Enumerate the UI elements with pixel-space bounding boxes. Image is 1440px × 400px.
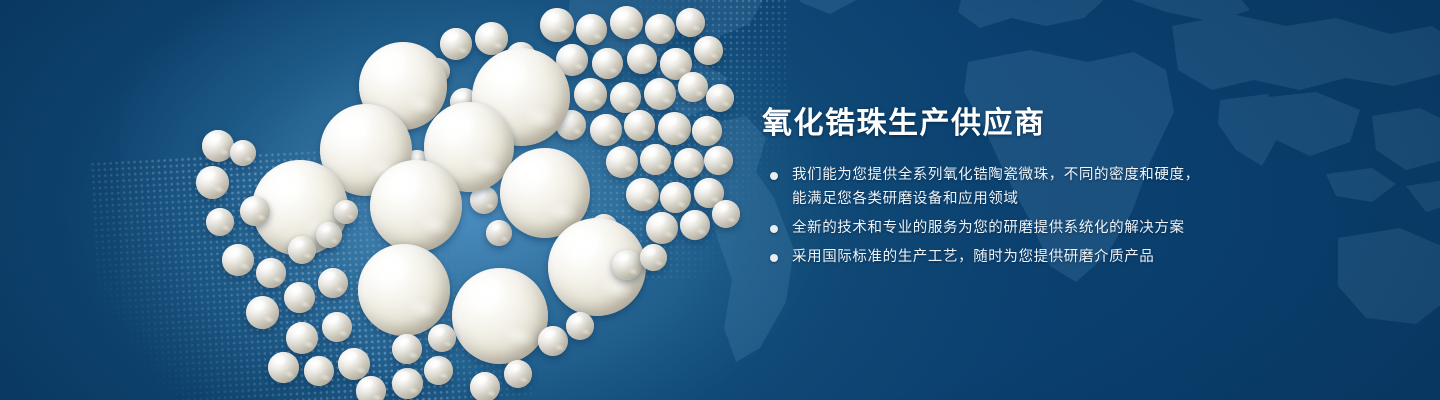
bead: [640, 144, 671, 175]
page-title: 氧化锆珠生产供应商: [762, 104, 1322, 144]
bead: [576, 14, 607, 45]
bead: [678, 72, 708, 102]
list-item-line: 全新的技术和专业的服务为您的研磨提供系统化的解决方案: [792, 216, 1322, 240]
bullet-dot-icon: [770, 172, 778, 180]
bullet-dot-icon: [770, 254, 778, 262]
bead-large: [358, 244, 450, 336]
list-item: 我们能为您提供全系列氧化锆陶瓷微珠，不同的密度和硬度， 能满足您各类研磨设备和应…: [762, 163, 1322, 211]
bead: [626, 178, 659, 211]
bead: [592, 48, 623, 79]
bead: [644, 78, 676, 110]
feature-list: 我们能为您提供全系列氧化锆陶瓷微珠，不同的密度和硬度， 能满足您各类研磨设备和应…: [762, 163, 1322, 269]
promo-banner: 氧化锆珠生产供应商 我们能为您提供全系列氧化锆陶瓷微珠，不同的密度和硬度， 能满…: [0, 0, 1440, 400]
bead: [240, 196, 270, 226]
bullet-dot-icon: [770, 225, 778, 233]
bead-large: [452, 268, 548, 364]
bead: [196, 166, 229, 199]
bead: [566, 312, 594, 340]
bead: [704, 146, 733, 175]
bead: [640, 244, 667, 271]
bead: [392, 334, 422, 364]
bead: [712, 200, 740, 228]
bead: [574, 78, 607, 111]
bead-large: [370, 160, 462, 252]
bead: [230, 140, 256, 166]
bead: [486, 220, 512, 246]
bead: [222, 244, 254, 276]
bead: [246, 296, 279, 329]
bead: [202, 130, 234, 162]
bead: [392, 368, 423, 399]
bead: [338, 348, 370, 380]
bead: [428, 324, 456, 352]
bead: [610, 82, 641, 113]
bead: [322, 312, 352, 342]
banner-copy: 氧化锆珠生产供应商 我们能为您提供全系列氧化锆陶瓷微珠，不同的密度和硬度， 能满…: [762, 104, 1322, 269]
bead: [288, 236, 316, 264]
bead: [440, 28, 472, 60]
bead: [538, 326, 568, 356]
bead: [692, 116, 722, 146]
bead: [316, 222, 342, 248]
bead: [356, 376, 386, 400]
bead: [304, 356, 334, 386]
list-item-line: 能满足您各类研磨设备和应用领域: [792, 187, 1322, 211]
list-item-line: 我们能为您提供全系列氧化锆陶瓷微珠，不同的密度和硬度，: [792, 163, 1322, 187]
bead: [206, 208, 234, 236]
zirconia-bead-cluster: [0, 0, 760, 400]
list-item-line: 采用国际标准的生产工艺，随时为您提供研磨介质产品: [792, 245, 1322, 269]
bead: [590, 114, 622, 146]
bead: [694, 36, 723, 65]
bead: [627, 44, 657, 74]
list-item: 采用国际标准的生产工艺，随时为您提供研磨介质产品: [762, 245, 1322, 269]
bead: [676, 8, 705, 37]
bead: [660, 182, 691, 213]
list-item: 全新的技术和专业的服务为您的研磨提供系统化的解决方案: [762, 216, 1322, 240]
bead: [284, 282, 315, 313]
bead: [658, 112, 691, 145]
bead: [624, 110, 655, 141]
bead: [318, 268, 348, 298]
bead: [706, 84, 734, 112]
bead: [256, 258, 286, 288]
bead: [645, 14, 675, 44]
bead: [286, 322, 318, 354]
bead: [606, 146, 638, 178]
bead: [646, 212, 678, 244]
bead: [268, 352, 299, 383]
bead: [680, 210, 710, 240]
bead: [504, 360, 532, 388]
bead: [470, 372, 500, 400]
bead: [540, 8, 574, 42]
bead: [334, 200, 358, 224]
bead: [612, 250, 642, 280]
bead: [610, 6, 643, 39]
bead: [674, 148, 704, 178]
bead: [424, 356, 453, 385]
